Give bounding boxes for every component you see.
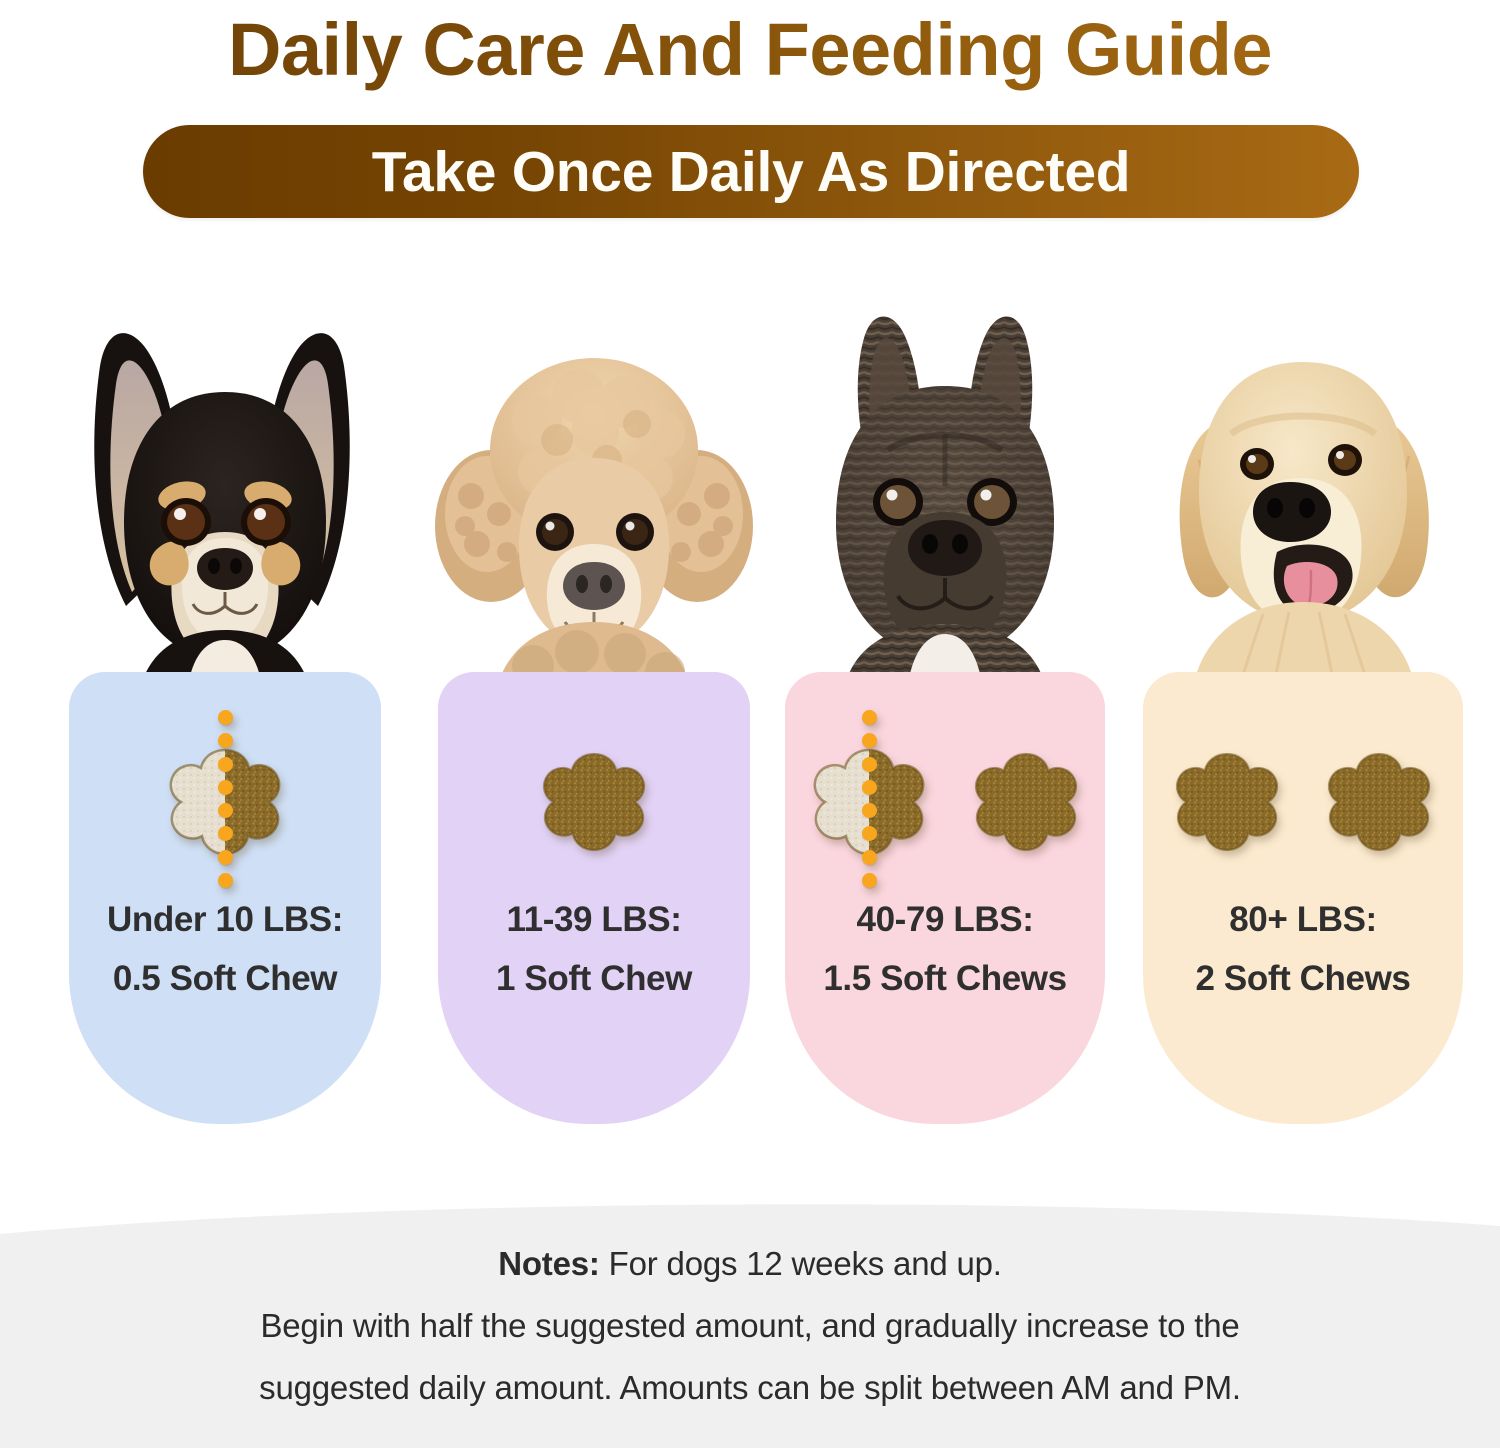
dosage-label-group: Under 10 LBS: 0.5 Soft Chew <box>69 890 381 1008</box>
panel-under-10-lbs: Under 10 LBS: 0.5 Soft Chew <box>69 672 381 1124</box>
chew-full <box>1320 743 1438 861</box>
cut-dot <box>862 710 877 725</box>
notes-line-3: suggested daily amount. Amounts can be s… <box>70 1357 1430 1419</box>
panel-11-39-lbs: 11-39 LBS: 1 Soft Chew <box>438 672 750 1124</box>
cut-dot <box>862 733 877 748</box>
panel-40-79-lbs: 40-79 LBS: 1.5 Soft Chews <box>785 672 1105 1124</box>
weight-range-label: Under 10 LBS: <box>107 900 343 939</box>
notes-line-1: Notes: For dogs 12 weeks and up. <box>70 1233 1430 1295</box>
cut-dot <box>218 873 233 888</box>
cut-dot <box>218 733 233 748</box>
page-title: Daily Care And Feeding Guide <box>0 2 1500 98</box>
dosage-card-11-39-lbs: 11-39 LBS: 1 Soft Chew <box>424 300 764 1160</box>
chew-illustration-group <box>69 712 381 892</box>
chew-full <box>1168 743 1286 861</box>
dose-amount-label: 1 Soft Chew <box>438 949 750 1008</box>
cut-dot <box>218 710 233 725</box>
subtitle-banner: Take Once Daily As Directed <box>143 125 1359 218</box>
cut-dot <box>218 803 233 818</box>
weight-range-label: 11-39 LBS: <box>507 900 682 939</box>
cut-dot <box>862 757 877 772</box>
dosage-card-80-plus-lbs: 80+ LBS: 2 Soft Chews <box>1135 300 1475 1160</box>
dose-amount-label: 2 Soft Chews <box>1143 949 1463 1008</box>
chew-full <box>535 743 653 861</box>
cut-line-dots <box>217 710 233 888</box>
panel-80-plus-lbs: 80+ LBS: 2 Soft Chews <box>1143 672 1463 1124</box>
weight-range-label: 80+ LBS: <box>1229 900 1377 939</box>
cut-dot <box>218 757 233 772</box>
chew-full <box>967 743 1085 861</box>
notes-line-1-rest: For dogs 12 weeks and up. <box>600 1245 1002 1282</box>
notes-label: Notes: <box>498 1245 599 1282</box>
cut-dot <box>862 850 877 865</box>
notes-text: Notes: For dogs 12 weeks and up. Begin w… <box>70 1233 1430 1419</box>
dosage-label-group: 40-79 LBS: 1.5 Soft Chews <box>785 890 1105 1008</box>
dose-amount-label: 0.5 Soft Chew <box>69 949 381 1008</box>
dog-photo-french-bulldog <box>775 300 1115 700</box>
cut-dot <box>862 826 877 841</box>
dosage-card-under-10-lbs: Under 10 LBS: 0.5 Soft Chew <box>55 300 395 1160</box>
dosage-label-group: 80+ LBS: 2 Soft Chews <box>1143 890 1463 1008</box>
header: Daily Care And Feeding Guide Take Once D… <box>0 0 1500 236</box>
dog-photo-chihuahua <box>55 300 395 700</box>
chew-illustration-group <box>1143 712 1463 892</box>
subtitle-text: Take Once Daily As Directed <box>372 142 1131 202</box>
dosage-card-40-79-lbs: 40-79 LBS: 1.5 Soft Chews <box>775 300 1115 1160</box>
cut-dot <box>218 850 233 865</box>
cut-line-dots <box>861 710 877 888</box>
cut-dot <box>862 873 877 888</box>
weight-range-label: 40-79 LBS: <box>857 900 1034 939</box>
dosage-label-group: 11-39 LBS: 1 Soft Chew <box>438 890 750 1008</box>
chew-half <box>161 738 289 866</box>
cut-dot <box>862 780 877 795</box>
dose-amount-label: 1.5 Soft Chews <box>785 949 1105 1008</box>
cut-dot <box>862 803 877 818</box>
dog-photo-poodle <box>424 300 764 700</box>
chew-half <box>805 738 933 866</box>
cut-dot <box>218 826 233 841</box>
notes-line-2: Begin with half the suggested amount, an… <box>70 1295 1430 1357</box>
chew-illustration-group <box>438 712 750 892</box>
notes-panel: Notes: For dogs 12 weeks and up. Begin w… <box>0 1150 1500 1448</box>
dog-photo-golden-retriever <box>1135 300 1475 700</box>
dosage-card-row: Under 10 LBS: 0.5 Soft Chew <box>0 300 1500 1160</box>
chew-illustration-group <box>785 712 1105 892</box>
cut-dot <box>218 780 233 795</box>
